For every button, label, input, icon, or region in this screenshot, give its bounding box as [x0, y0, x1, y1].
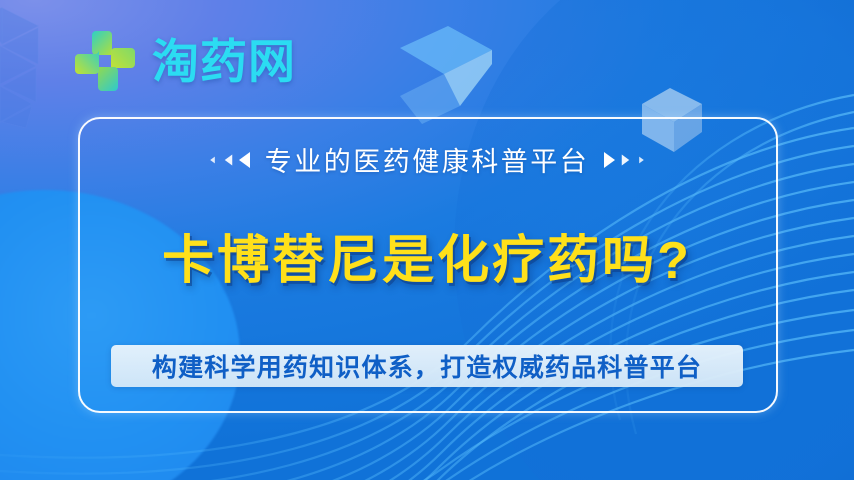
tagline-banner: 构建科学用药知识体系，打造权威药品科普平台 [111, 345, 743, 387]
page-title: 卡博替尼是化疗药吗? [0, 218, 854, 293]
triangle-semicircle-pattern [0, 2, 76, 138]
subtitle-text: 专业的医药健康科普平台 [265, 140, 590, 179]
brand-name-text: 淘药网 [152, 38, 296, 85]
triangle-right-arrows-icon [604, 152, 647, 168]
tagline-text: 构建科学用药知识体系，打造权威药品科普平台 [152, 348, 702, 384]
medical-cross-pinwheel-logo-icon [72, 28, 138, 94]
triangle-left-arrows-icon [207, 152, 250, 168]
subtitle-row: 专业的医药健康科普平台 [0, 140, 854, 179]
promo-banner-canvas: 淘药网 专业的医药健康科普平台 卡博替尼是化疗药吗? 构建科学用药知识体系，打造… [0, 0, 854, 480]
brand-logo[interactable]: 淘药网 [72, 28, 296, 94]
isometric-cube-icon [392, 20, 498, 128]
